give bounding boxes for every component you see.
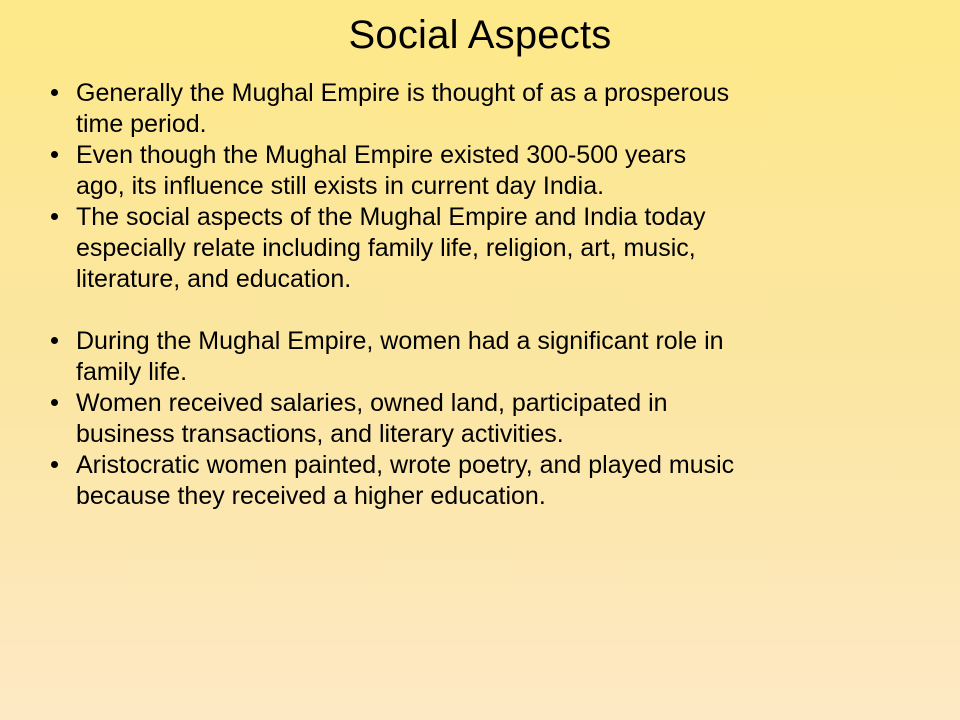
bullet-item: Aristocratic women painted, wrote poetry…	[46, 450, 926, 512]
bullet-item: The social aspects of the Mughal Empire …	[46, 202, 926, 295]
bullet-text: Even though the Mughal Empire existed 30…	[76, 140, 926, 202]
bullet-dot-icon	[51, 461, 58, 468]
bullet-item: Even though the Mughal Empire existed 30…	[46, 140, 926, 202]
bullet-item: Women received salaries, owned land, par…	[46, 388, 926, 450]
bullet-text: The social aspects of the Mughal Empire …	[76, 202, 926, 295]
slide-title: Social Aspects	[0, 11, 960, 59]
bullet-item: During the Mughal Empire, women had a si…	[46, 326, 926, 388]
bullet-text: Generally the Mughal Empire is thought o…	[76, 78, 926, 140]
bullet-dot-icon	[51, 151, 58, 158]
bullet-text: Women received salaries, owned land, par…	[76, 388, 926, 450]
presentation-slide: Social Aspects Generally the Mughal Empi…	[0, 0, 960, 720]
bullet-dot-icon	[51, 213, 58, 220]
bullet-dot-icon	[51, 399, 58, 406]
bullet-dot-icon	[51, 89, 58, 96]
bullet-spacer	[46, 295, 926, 326]
bullet-text: During the Mughal Empire, women had a si…	[76, 326, 926, 388]
bullet-text: Aristocratic women painted, wrote poetry…	[76, 450, 926, 512]
bullet-list: Generally the Mughal Empire is thought o…	[46, 78, 926, 512]
bullet-dot-icon	[51, 337, 58, 344]
bullet-item: Generally the Mughal Empire is thought o…	[46, 78, 926, 140]
